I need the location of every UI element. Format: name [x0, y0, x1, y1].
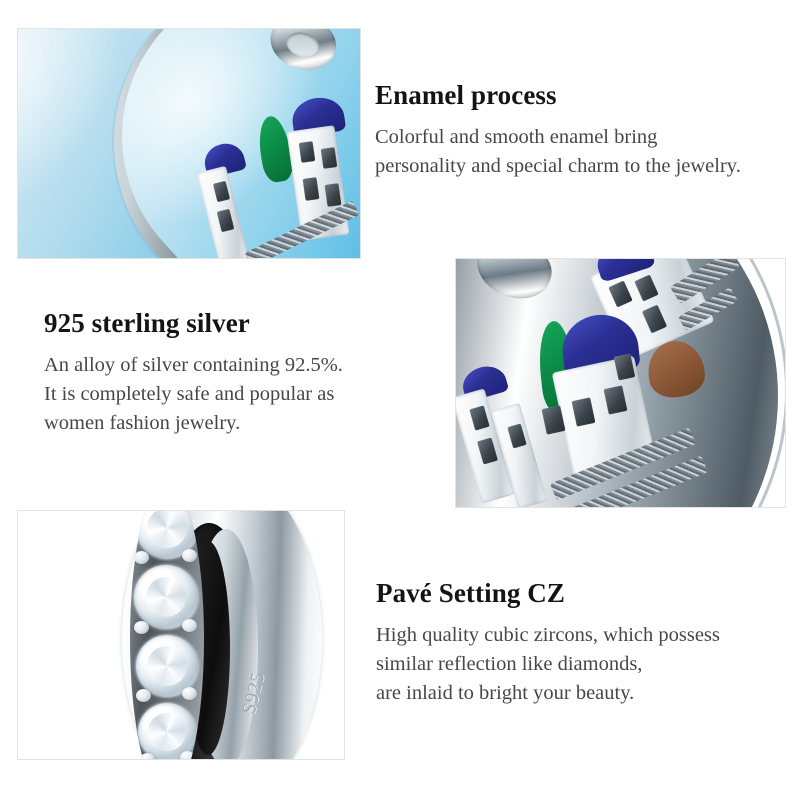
feature-text-pave-setting: Pavé Setting CZ High quality cubic zirco…	[376, 578, 720, 708]
window	[321, 147, 338, 169]
prong	[182, 687, 197, 700]
feature-body-line: are inlaid to bright your beauty.	[376, 679, 720, 708]
feature-body-line: similar reflection like diamonds,	[376, 650, 720, 679]
window	[299, 141, 316, 163]
cz-channel	[130, 511, 204, 759]
prong	[180, 751, 195, 759]
feature-image-sterling-silver	[455, 258, 786, 508]
cz-ring-photo	[18, 511, 344, 759]
feature-heading-pave-setting: Pavé Setting CZ	[376, 578, 720, 610]
window	[303, 177, 320, 201]
heart-charm-photo	[18, 29, 360, 258]
window	[325, 183, 342, 207]
feature-body-line: women fashion jewelry.	[44, 409, 343, 438]
feature-text-enamel: Enamel process Colorful and smooth ename…	[375, 80, 741, 181]
village-buildings	[456, 259, 785, 507]
feature-body-line: An alloy of silver containing 92.5%.	[44, 351, 343, 380]
feature-image-enamel	[17, 28, 361, 259]
feature-heading-enamel: Enamel process	[375, 80, 741, 112]
prong	[134, 551, 149, 564]
feature-body-line: It is completely safe and popular as	[44, 380, 343, 409]
feature-image-pave-setting	[17, 510, 345, 760]
feature-body-line: personality and special charm to the jew…	[375, 152, 741, 181]
prong	[182, 549, 197, 562]
prong	[182, 619, 197, 632]
feature-body-line: High quality cubic zircons, which posses…	[376, 621, 720, 650]
prong	[134, 621, 149, 634]
village-macro-photo	[456, 259, 785, 507]
village-silhouette	[186, 86, 360, 258]
feature-text-sterling-silver: 925 sterling silver An alloy of silver c…	[44, 308, 343, 438]
infographic-canvas: Enamel process Colorful and smooth ename…	[0, 0, 800, 800]
feature-body-line: Colorful and smooth enamel bring	[375, 123, 741, 152]
prong	[140, 753, 155, 759]
prong	[136, 689, 151, 702]
feature-heading-sterling-silver: 925 sterling silver	[44, 308, 343, 340]
